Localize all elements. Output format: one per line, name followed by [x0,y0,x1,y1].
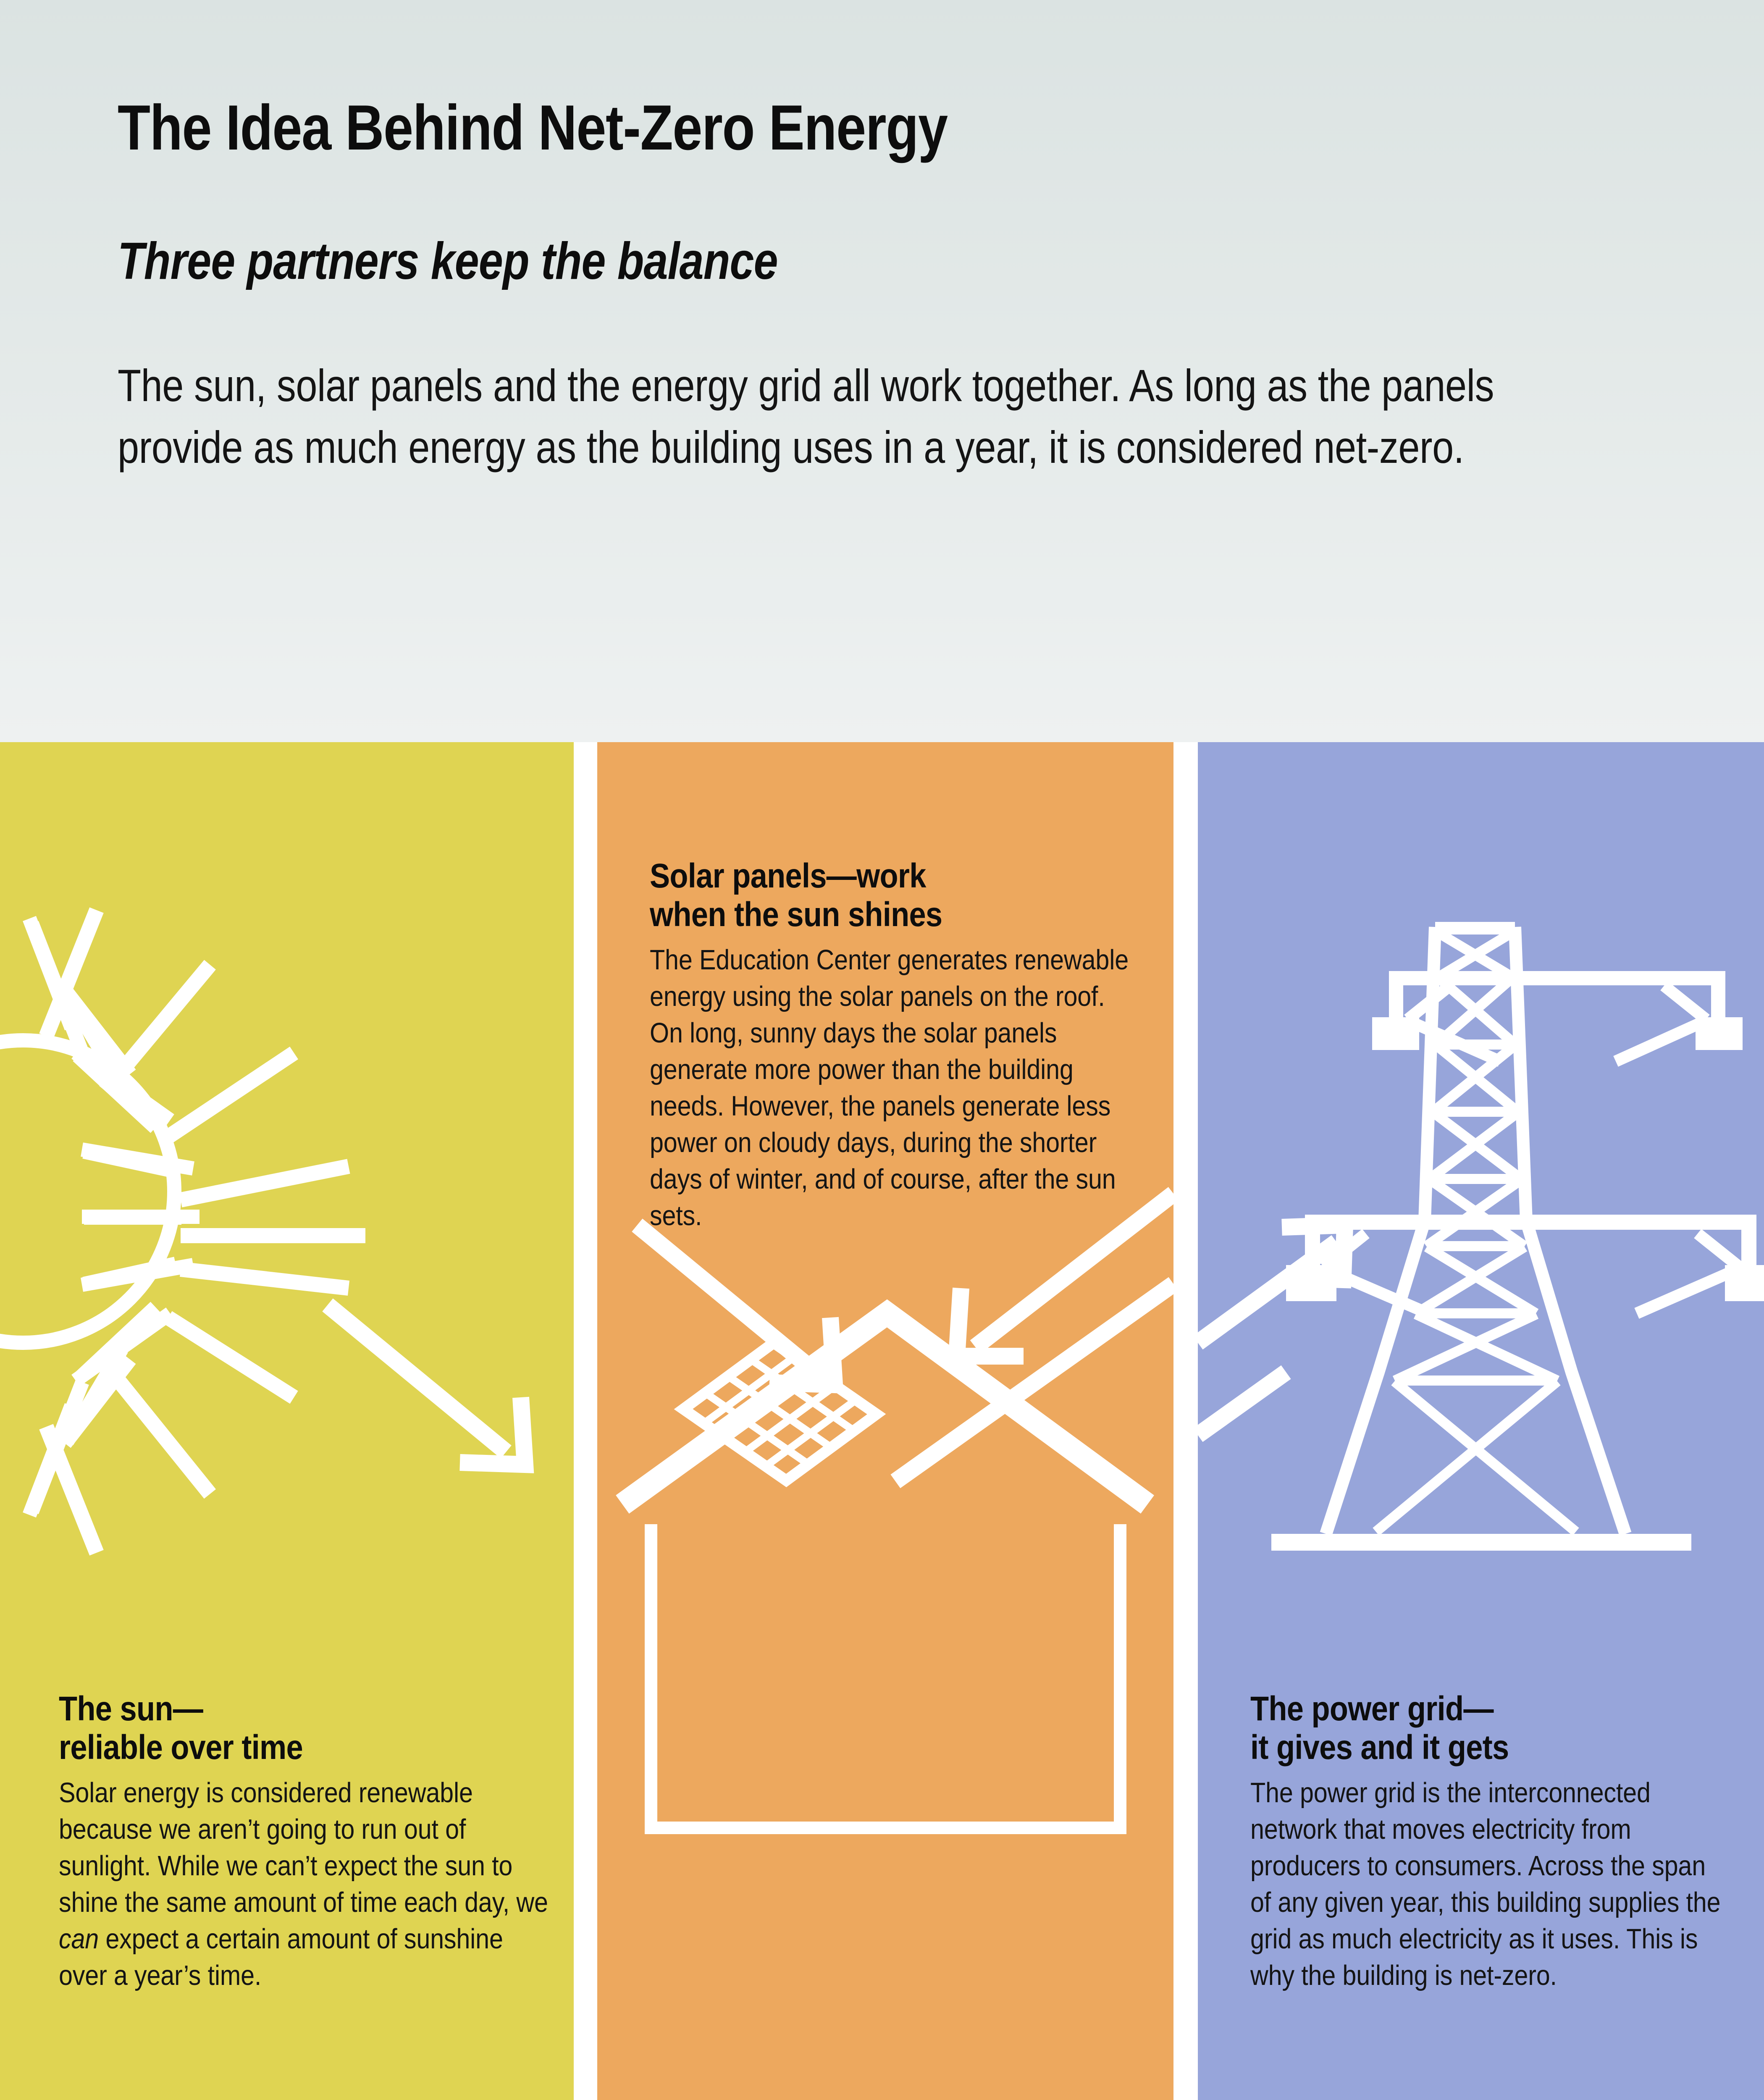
arrow-house-to-grid-head [1198,1225,1345,1343]
column-solar-panels: Solar panels—work when the sun shines Th… [597,742,1173,2100]
grid-body: The power grid is the interconnected net… [1250,1774,1730,1994]
solar-panel-array [683,1343,877,1480]
column-sun: The sun— reliable over time Solar energy… [0,742,574,2100]
arrow-grid-to-house-tail [1198,1372,1286,1435]
sun-body: Solar energy is considered renewable bec… [59,1774,549,1994]
sun-heading: The sun— reliable over time [59,1690,547,1767]
sun-body-emphasis: can [59,1923,99,1955]
panels-body: The Education Center generates renewable… [650,942,1129,1234]
grid-text-block: The power grid— it gives and it gets The… [1250,1690,1764,1994]
grid-heading: The power grid— it gives and it gets [1250,1690,1727,1767]
upper-crossarm [1372,971,1743,1061]
panels-text-block: Solar panels—work when the sun shines Th… [650,857,1173,1234]
page-title: The Idea Behind Net-Zero Energy [118,96,948,160]
arrow-sunray-to-roof [637,1225,835,1385]
sun-body-part-1: Solar energy is considered renewable bec… [59,1777,548,1918]
header-band: The Idea Behind Net-Zero Energy Three pa… [0,0,1764,742]
sun-body-part-2: expect a certain amount of sunshine over… [59,1923,503,1991]
sun-text-block: The sun— reliable over time Solar energy… [59,1690,574,1994]
page-subtitle: Three partners keep the balance [118,235,778,287]
column-power-grid: The power grid— it gives and it gets The… [1198,742,1764,2100]
arrow-house-to-grid [895,1284,1173,1481]
lower-crossarm [1286,1215,1764,1313]
infographic-page: The Idea Behind Net-Zero Energy Three pa… [0,0,1764,2100]
intro-paragraph: The sun, solar panels and the energy gri… [118,355,1599,478]
house-outline [622,1313,1147,1834]
ground-line [1271,1534,1691,1551]
arrow-sun-to-house [328,1305,525,1465]
panels-heading: Solar panels—work when the sun shines [650,857,1126,934]
